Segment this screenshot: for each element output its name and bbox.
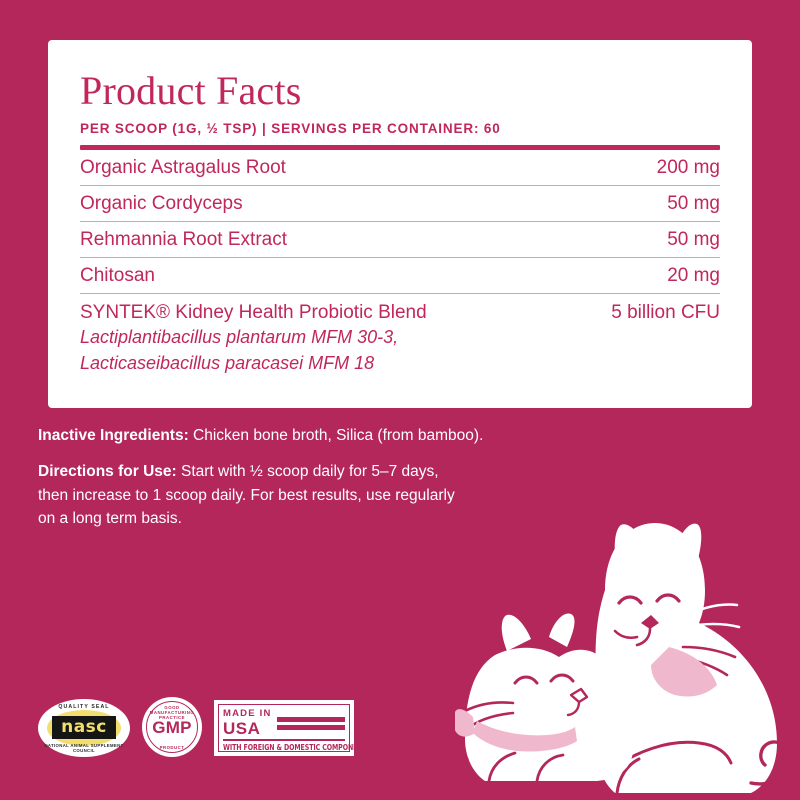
gmp-wordmark: GMP: [142, 718, 202, 738]
made-in-usa-divider: [223, 739, 345, 741]
ingredient-name: Rehmannia Root Extract: [80, 229, 287, 251]
table-row: Rehmannia Root Extract 50 mg: [80, 222, 720, 258]
directions-for-use: Directions for Use: Start with ½ scoop d…: [38, 460, 468, 531]
product-facts-card: Product Facts PER SCOOP (1G, ½ TSP) | SE…: [48, 40, 752, 408]
blend-amount: 5 billion CFU: [611, 301, 720, 324]
nasc-arc-bottom-label: NATIONAL ANIMAL SUPPLEMENT COUNCIL: [38, 743, 130, 753]
table-row: Organic Cordyceps 50 mg: [80, 186, 720, 222]
ingredient-amount: 50 mg: [667, 229, 720, 251]
usa-label: USA: [223, 720, 272, 737]
made-in-usa-subtext: WITH FOREIGN & DOMESTIC COMPONENTS: [223, 743, 335, 752]
nasc-seal-icon: QUALITY SEAL nasc NATIONAL ANIMAL SUPPLE…: [38, 699, 130, 757]
table-row: Chitosan 20 mg: [80, 258, 720, 294]
blend-details: SYNTEK® Kidney Health Probiotic Blend La…: [80, 301, 427, 376]
made-in-usa-frame: MADE IN USA WITH FOREIGN & DOMESTIC COMP…: [218, 704, 350, 752]
probiotic-blend-row: SYNTEK® Kidney Health Probiotic Blend La…: [80, 294, 720, 376]
page-title: Product Facts: [80, 70, 720, 112]
ingredient-amount: 200 mg: [657, 157, 720, 179]
ingredient-rows: Organic Astragalus Root 200 mg Organic C…: [80, 150, 720, 376]
ingredient-name: Organic Astragalus Root: [80, 157, 286, 179]
two-cats-illustration: [455, 495, 800, 800]
ingredient-amount: 20 mg: [667, 265, 720, 287]
table-row: Organic Astragalus Root 200 mg: [80, 150, 720, 186]
directions-label: Directions for Use:: [38, 463, 177, 480]
serving-info: PER SCOOP (1G, ½ TSP) | SERVINGS PER CON…: [80, 121, 720, 136]
blend-strain: Lactiplantibacillus plantarum MFM 30-3,: [80, 325, 427, 351]
ingredient-name: Organic Cordyceps: [80, 193, 243, 215]
inactive-ingredients-text: Chicken bone broth, Silica (from bamboo)…: [189, 427, 484, 444]
ingredient-amount: 50 mg: [667, 193, 720, 215]
made-in-usa-top: MADE IN USA: [223, 708, 345, 737]
nasc-wordmark: nasc: [52, 716, 116, 739]
made-in-usa-icon: MADE IN USA WITH FOREIGN & DOMESTIC COMP…: [214, 700, 354, 756]
ingredient-name: Chitosan: [80, 265, 155, 287]
blend-strain: Lacticaseibacillus paracasei MFM 18: [80, 351, 427, 377]
flag-stripes-icon: [277, 716, 345, 730]
gmp-seal-icon: GOOD MANUFACTURING PRACTICE GMP PRODUCT: [142, 697, 202, 757]
blend-name: SYNTEK® Kidney Health Probiotic Blend: [80, 301, 427, 325]
inactive-ingredients: Inactive Ingredients: Chicken bone broth…: [38, 424, 678, 448]
label-page: Product Facts PER SCOOP (1G, ½ TSP) | SE…: [0, 0, 800, 800]
inactive-ingredients-label: Inactive Ingredients:: [38, 427, 189, 444]
gmp-arc-bottom-label: PRODUCT: [142, 745, 202, 750]
